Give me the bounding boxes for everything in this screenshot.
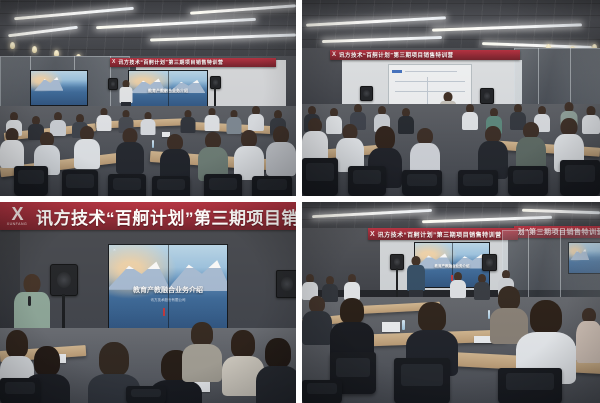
glass-mullion bbox=[528, 230, 529, 306]
office-chair bbox=[14, 166, 48, 196]
water-bottle bbox=[152, 140, 154, 148]
audience-member bbox=[582, 106, 600, 132]
audience-member bbox=[462, 104, 478, 128]
office-chair bbox=[508, 166, 548, 196]
led-video-wall: 教育产教融合业务介绍 讯方技术股份有限公司 ✕ bbox=[108, 244, 228, 332]
training-room-scene: X 讯方技术“百舸计划”第三期项目销售特训营 教育产教融合业务介绍 bbox=[0, 0, 296, 196]
event-banner: X XUNFANG 讯方技术“百舸计划”第三期项目销 bbox=[0, 202, 296, 230]
event-banner: X 讯方技术“百舸计划”第三期项目销售特训营 bbox=[330, 50, 520, 60]
audience-member bbox=[204, 108, 219, 129]
spot-light bbox=[32, 46, 37, 53]
audience-member bbox=[74, 126, 100, 166]
handheld-microphone bbox=[28, 296, 31, 306]
water-bottle bbox=[402, 320, 405, 330]
slide-text-line bbox=[395, 81, 465, 82]
logo-name: XUNFANG bbox=[7, 223, 27, 227]
office-chair bbox=[498, 368, 562, 403]
pa-speaker bbox=[108, 78, 118, 90]
audience-member bbox=[302, 296, 332, 344]
audience-member bbox=[516, 122, 546, 172]
audience-member bbox=[474, 274, 490, 298]
slide-logo: ✕ bbox=[113, 248, 116, 252]
office-chair bbox=[394, 358, 450, 403]
audience-member bbox=[116, 128, 144, 172]
pa-speaker bbox=[480, 88, 494, 104]
office-chair bbox=[204, 174, 242, 196]
photo-collage: X 讯方技术“百舸计划”第三期项目销售特训营 教育产教融合业务介绍 bbox=[0, 0, 600, 403]
xunfang-logo-icon: X bbox=[332, 52, 335, 58]
speaker-stand bbox=[396, 268, 398, 300]
office-chair bbox=[108, 174, 146, 196]
audience-member bbox=[302, 274, 318, 298]
audience-member bbox=[180, 110, 195, 131]
logo-mark: X bbox=[11, 205, 22, 223]
logo-mark: X bbox=[332, 52, 335, 58]
audience-member bbox=[336, 124, 364, 170]
training-room-scene: 讯方技术“百舸计划”第三期项目销售特训营 X 讯方技术“百舸计划”第三期项目销售… bbox=[302, 202, 600, 403]
pa-speaker bbox=[482, 254, 497, 271]
audience-member bbox=[198, 132, 228, 178]
logo-mark: X bbox=[112, 60, 114, 65]
audience-member bbox=[344, 274, 360, 298]
audience-member bbox=[330, 298, 374, 360]
office-chair bbox=[348, 166, 386, 196]
office-chair bbox=[62, 170, 98, 196]
screen-bezel-seam bbox=[168, 245, 169, 331]
led-video-wall: 教育产教融合业务介绍 bbox=[128, 70, 208, 110]
training-room-scene: X 讯方技术“百舸计划”第三期项目销售特训营 bbox=[302, 0, 600, 196]
training-room-scene: X XUNFANG 讯方技术“百舸计划”第三期项目销 教育产教融合业务介绍 讯方… bbox=[0, 202, 296, 403]
audience-member bbox=[450, 272, 466, 296]
office-chair bbox=[126, 386, 166, 403]
screen-bezel-seam bbox=[168, 71, 169, 109]
office-chair bbox=[402, 170, 442, 196]
handout-paper bbox=[382, 322, 400, 332]
audience-member bbox=[302, 118, 328, 160]
pa-speaker bbox=[50, 264, 78, 296]
banner-text: 讯方技术“百舸计划”第三期项目销售特训营 bbox=[378, 230, 502, 239]
banner-text: 讯方技术“百舸计划”第三期项目销 bbox=[36, 204, 296, 229]
office-chair bbox=[458, 170, 498, 196]
secondary-led-screen bbox=[30, 70, 88, 106]
banner-text: 讯方技术“百舸计划”第三期项目销售特训营 bbox=[118, 59, 223, 66]
audience-member bbox=[478, 126, 508, 176]
xunfang-logo-icon: X bbox=[112, 60, 114, 65]
xunfang-logo-icon: X bbox=[370, 231, 374, 238]
banner-text: 讯方技术“百舸计划”第三期项目销售特训营 bbox=[339, 51, 454, 59]
office-chair bbox=[252, 176, 292, 196]
collage-panel-bottom-right: 讯方技术“百舸计划”第三期项目销售特训营 X 讯方技术“百舸计划”第三期项目销售… bbox=[302, 202, 600, 403]
flag-marker bbox=[163, 308, 165, 316]
pa-speaker bbox=[360, 86, 373, 101]
office-chair bbox=[152, 176, 190, 196]
slide-text-line bbox=[405, 71, 457, 72]
pa-speaker bbox=[276, 270, 296, 298]
audience-member bbox=[248, 106, 264, 129]
audience-member bbox=[50, 112, 66, 134]
collage-panel-top-right: X 讯方技术“百舸计划”第三期项目销售特训营 bbox=[302, 0, 600, 196]
audience-member bbox=[410, 128, 440, 176]
audience-member bbox=[576, 308, 600, 362]
event-banner: X 讯方技术“百舸计划”第三期项目销售特训营 bbox=[110, 58, 276, 67]
slide-accent-bar bbox=[392, 70, 402, 73]
glass-mullion bbox=[560, 230, 561, 306]
event-banner: X 讯方技术“百舸计划”第三期项目销售特训营 bbox=[368, 228, 518, 240]
collage-panel-bottom-left: X XUNFANG 讯方技术“百舸计划”第三期项目销 教育产教融合业务介绍 讯方… bbox=[0, 202, 296, 403]
office-chair bbox=[560, 160, 600, 196]
audience-member bbox=[182, 322, 222, 378]
audience-member bbox=[160, 134, 190, 180]
office-chair bbox=[302, 380, 342, 403]
audience-member bbox=[0, 128, 24, 164]
spot-light bbox=[10, 42, 15, 49]
xunfang-logo-icon: X XUNFANG bbox=[4, 205, 30, 227]
logo-mark: X bbox=[370, 231, 374, 238]
audience-member bbox=[234, 130, 264, 178]
audience-member bbox=[266, 126, 296, 174]
office-chair bbox=[0, 378, 40, 403]
audience-member bbox=[256, 338, 296, 403]
office-chair bbox=[302, 158, 338, 196]
audience-member bbox=[226, 110, 241, 132]
collage-panel-top-left: X 讯方技术“百舸计划”第三期项目销售特训营 教育产教融合业务介绍 bbox=[0, 0, 296, 196]
